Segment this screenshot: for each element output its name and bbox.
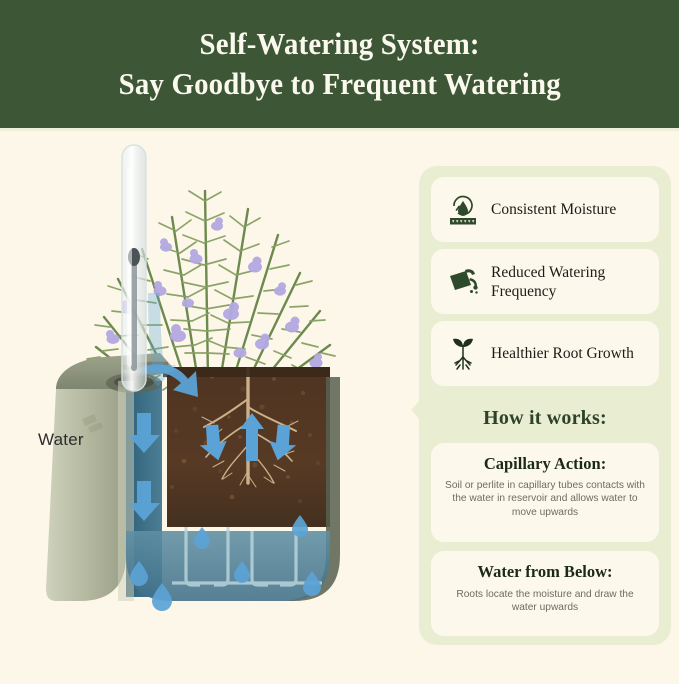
step-body-water-from-below: Roots locate the moisture and draw the w… <box>431 582 659 615</box>
page-header: Self-Watering System: Say Goodbye to Fre… <box>0 0 679 128</box>
seedling-roots-icon <box>443 334 483 374</box>
page-title-line-1: Self-Watering System: <box>199 25 479 63</box>
step-title-capillary-action: Capillary Action: <box>431 454 659 474</box>
tube-highlight <box>127 167 132 367</box>
step-card-capillary-action[interactable]: Capillary Action: Soil or perlite in cap… <box>431 443 659 542</box>
moisture-drop-soil-icon <box>443 190 483 230</box>
step-body-capillary-action: Soil or perlite in capillary tubes conta… <box>431 474 659 519</box>
benefit-card-healthier-roots[interactable]: Healthier Root Growth <box>431 321 659 386</box>
water-level-indicator-tube <box>122 145 146 391</box>
benefit-label-consistent-moisture: Consistent Moisture <box>491 200 616 219</box>
watering-can-icon <box>443 262 483 302</box>
benefit-label-healthier-roots: Healthier Root Growth <box>491 344 634 363</box>
step-title-water-from-below: Water from Below: <box>431 562 659 582</box>
planter-illustration: Water <box>0 131 415 679</box>
water-label: Water <box>38 430 84 450</box>
benefit-card-reduced-watering[interactable]: Reduced Watering Frequency <box>431 249 659 314</box>
planter-cutaway-svg <box>0 131 415 679</box>
page-title-line-2: Say Goodbye to Frequent Watering <box>118 65 560 103</box>
benefit-card-consistent-moisture[interactable]: Consistent Moisture <box>431 177 659 242</box>
benefit-label-reduced-watering: Reduced Watering Frequency <box>491 263 649 301</box>
step-card-water-from-below[interactable]: Water from Below: Roots locate the moist… <box>431 551 659 636</box>
soil-surface <box>163 367 330 377</box>
how-it-works-heading: How it works: <box>419 407 671 430</box>
